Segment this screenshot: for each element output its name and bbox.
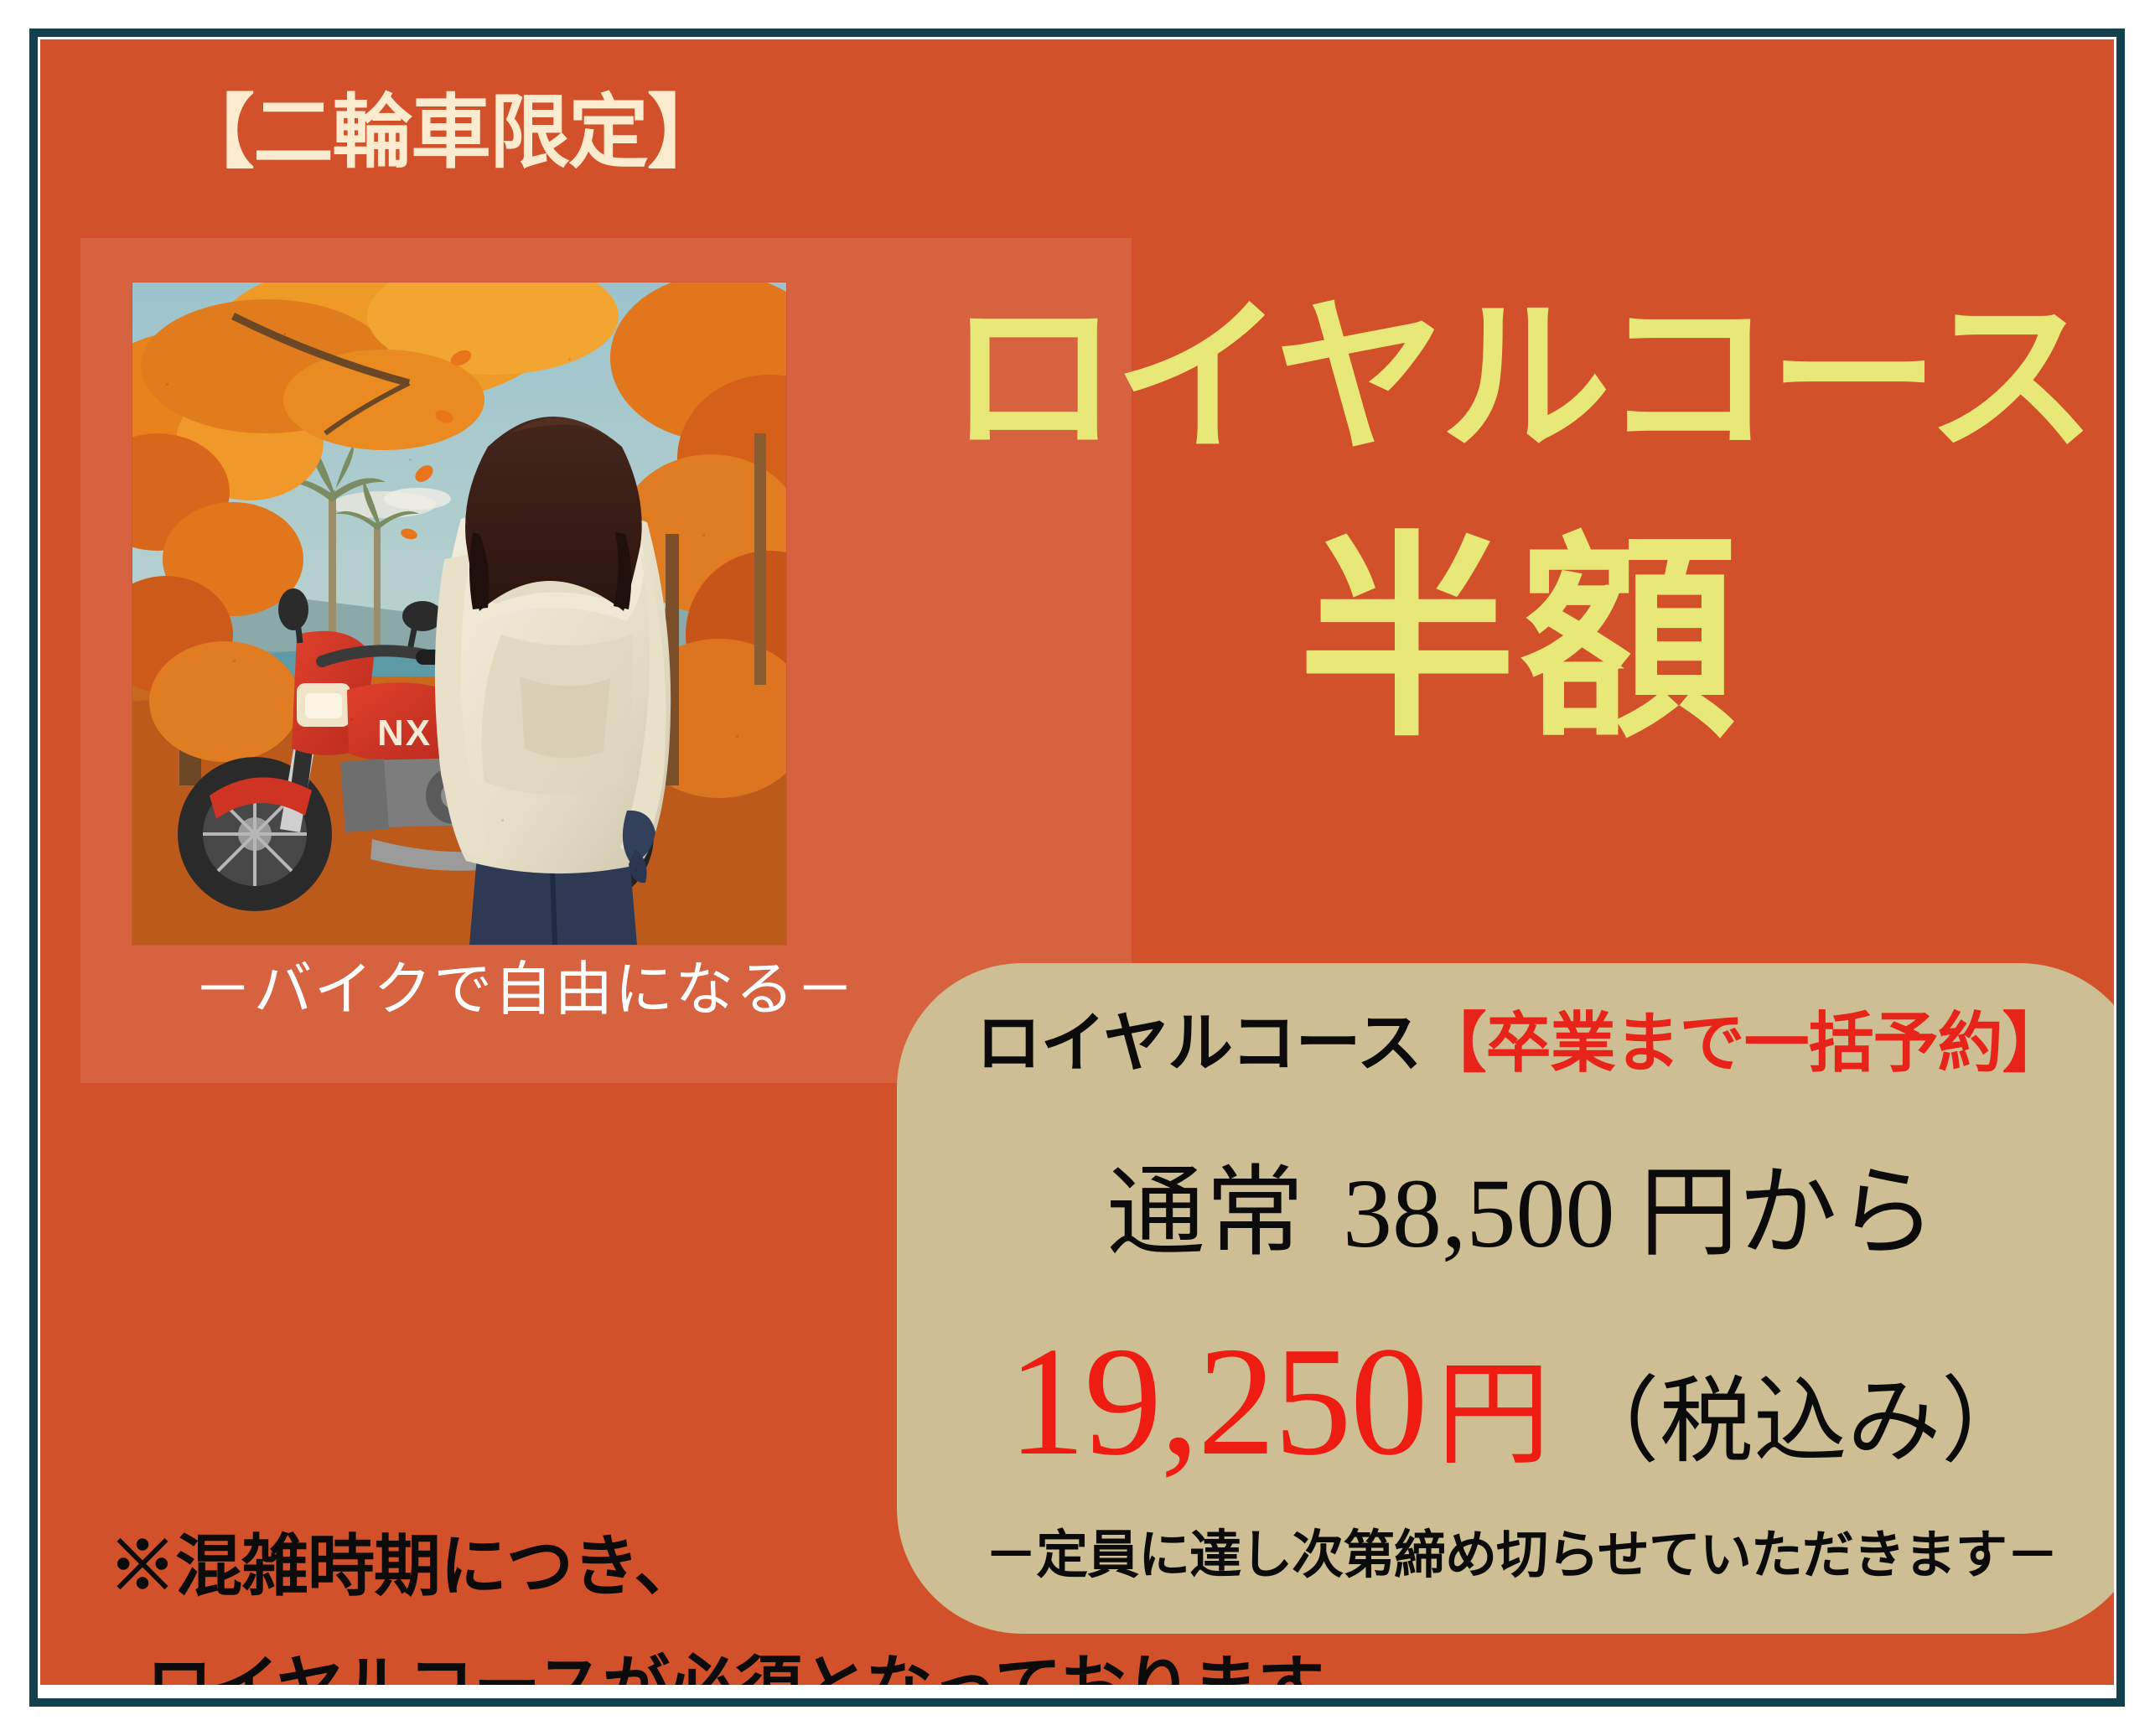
price-heading-highlight: 【卒業まで一括予約】 [1422,1006,2067,1080]
photo-caption: －バイクで自由になる－ [80,961,969,1020]
hero-illustration: NX [132,282,786,945]
title-sub: 半額 [887,531,2114,749]
footnote-line-1: ※混雑時期につき、 [109,1533,1282,1600]
kicker-label: 【二輪車限定】 [174,91,726,176]
sale-price-amount: 19,250 [1008,1315,1427,1488]
price-heading-plain: ロイヤルコース [976,1006,1421,1080]
normal-price-unit: 円から [1640,1158,1936,1268]
normal-price-label: 通常 [1106,1158,1304,1268]
title-block: ロイヤルコース 半額 [887,295,2114,749]
normal-price-row: 通常38,500 円から [897,1164,2114,1263]
footnote-line-2: ロイヤルコースが必須となっております。 [146,1654,1282,1685]
footnote: ※混雑時期につき、 ロイヤルコースが必須となっております。 [109,1533,1282,1685]
price-card-heading: ロイヤルコース【卒業まで一括予約】 [897,1010,2114,1075]
sale-price-tax-note: （税込み） [1566,1371,2035,1474]
svg-text:NX: NX [377,713,432,754]
sale-price-unit: 円 [1437,1353,1551,1479]
sale-price-row: 19,250円（税込み） [897,1324,2114,1479]
poster-root: 【二輪車限定】 [0,0,2155,1736]
title-main: ロイヤルコース [874,295,2114,463]
poster-background: 【二輪車限定】 [40,39,2114,1685]
normal-price-amount: 38,500 [1343,1158,1615,1268]
